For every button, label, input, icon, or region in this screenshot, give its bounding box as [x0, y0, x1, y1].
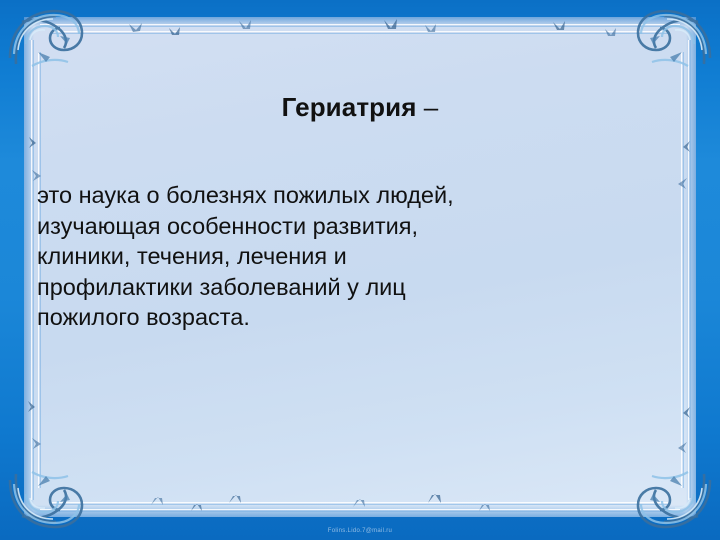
slide-title: Гериатрия – [24, 93, 696, 122]
slide-title-term: Гериатрия [282, 92, 417, 122]
slide-body-text: это наука о болезнях пожилых людей, изуч… [37, 180, 475, 333]
slide-canvas: Гериатрия – это наука о болезнях пожилых… [0, 0, 720, 540]
slide-title-dash: – [416, 92, 438, 122]
slide-text-area: Гериатрия – это наука о болезнях пожилых… [24, 17, 696, 517]
